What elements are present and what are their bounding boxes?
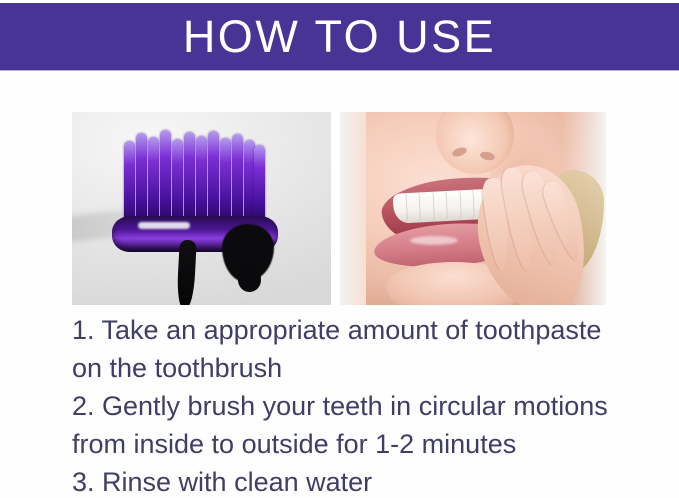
lip-highlight: [410, 236, 458, 245]
brush-head-highlight: [138, 222, 190, 229]
header-banner: HOW TO USE: [0, 3, 679, 70]
page-title: HOW TO USE: [183, 14, 496, 59]
step-1-line-1: 1. Take an appropriate amount of toothpa…: [72, 311, 662, 349]
step-3-line-1: 3. Rinse with clean water: [72, 463, 662, 498]
instruction-list: 1. Take an appropriate amount of toothpa…: [72, 311, 662, 498]
step-2-line-2: from inside to outside for 1-2 minutes: [72, 425, 662, 463]
step-2-line-1: 2. Gently brush your teeth in circular m…: [72, 387, 662, 425]
step-1-line-2: on the toothbrush: [72, 349, 662, 387]
toothpaste-drop: [238, 262, 261, 292]
toothbrush-photo: [72, 112, 331, 305]
smile-photo: [340, 112, 606, 305]
how-to-use-infographic: HOW TO USE: [0, 0, 679, 498]
brush-bristles: [124, 130, 264, 225]
photo-row: [72, 112, 606, 305]
photo-left-edge: [340, 112, 366, 305]
